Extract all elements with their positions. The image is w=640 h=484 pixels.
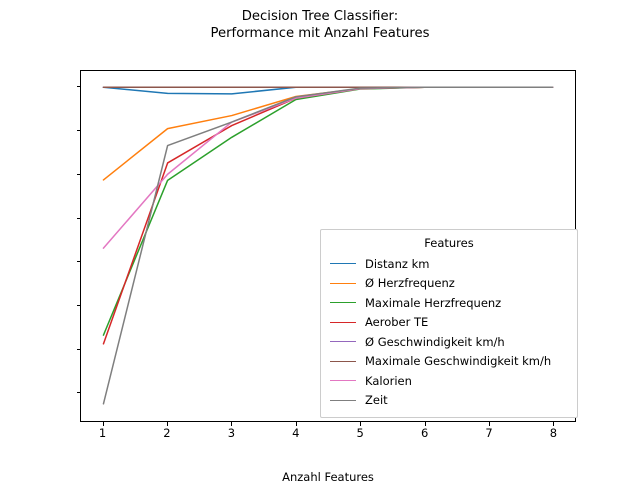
y-tick-mark: [77, 174, 81, 175]
x-tick-mark: [553, 422, 554, 426]
legend-item[interactable]: Aerober TE: [330, 313, 568, 333]
x-tick-mark: [360, 422, 361, 426]
x-tick-label: 6: [405, 426, 445, 440]
legend-item-label: Maximale Geschwindigkeit km/h: [365, 354, 551, 368]
legend-item-label: Maximale Herzfrequenz: [365, 296, 501, 310]
legend-color-swatch: [330, 283, 356, 284]
legend-color-swatch: [330, 400, 356, 401]
legend-color-swatch: [330, 380, 356, 381]
legend-title: Features: [330, 236, 568, 250]
y-tick-mark: [77, 218, 81, 219]
y-tick-mark: [77, 349, 81, 350]
legend-item-label: Zeit: [365, 393, 388, 407]
legend: Features Distanz kmØ HerzfrequenzMaximal…: [320, 229, 578, 418]
x-tick-mark: [231, 422, 232, 426]
legend-item[interactable]: Maximale Herzfrequenz: [330, 293, 568, 313]
legend-item[interactable]: Zeit: [330, 391, 568, 411]
x-tick-mark: [425, 422, 426, 426]
y-tick-mark: [77, 130, 81, 131]
legend-item-label: Ø Herzfrequenz: [365, 276, 455, 290]
legend-item-label: Aerober TE: [365, 315, 428, 329]
x-tick-mark: [103, 422, 104, 426]
x-axis-label: Anzahl Features: [80, 470, 576, 484]
x-tick-mark: [296, 422, 297, 426]
legend-color-swatch: [330, 302, 356, 303]
legend-item[interactable]: Ø Geschwindigkeit km/h: [330, 332, 568, 352]
x-tick-label: 5: [340, 426, 380, 440]
legend-item[interactable]: Ø Herzfrequenz: [330, 274, 568, 294]
legend-color-swatch: [330, 361, 356, 362]
legend-item-label: Kalorien: [365, 374, 412, 388]
legend-color-swatch: [330, 263, 356, 264]
x-tick-label: 1: [83, 426, 123, 440]
legend-color-swatch: [330, 322, 356, 323]
legend-item[interactable]: Maximale Geschwindigkeit km/h: [330, 352, 568, 372]
x-tick-label: 2: [147, 426, 187, 440]
x-tick-mark: [489, 422, 490, 426]
x-tick-mark: [167, 422, 168, 426]
legend-item-label: Ø Geschwindigkeit km/h: [365, 335, 505, 349]
legend-item[interactable]: Kalorien: [330, 371, 568, 391]
y-tick-mark: [77, 261, 81, 262]
x-tick-label: 8: [533, 426, 573, 440]
legend-item[interactable]: Distanz km: [330, 254, 568, 274]
x-tick-label: 7: [469, 426, 509, 440]
legend-color-swatch: [330, 341, 356, 342]
y-tick-mark: [77, 305, 81, 306]
y-tick-mark: [77, 86, 81, 87]
legend-item-label: Distanz km: [365, 257, 429, 271]
chart-title: Decision Tree Classifier: Performance mi…: [0, 8, 640, 42]
y-tick-mark: [77, 392, 81, 393]
x-tick-label: 3: [211, 426, 251, 440]
x-tick-label: 4: [276, 426, 316, 440]
legend-entries: Distanz kmØ HerzfrequenzMaximale Herzfre…: [330, 254, 568, 410]
chart-figure: Decision Tree Classifier: Performance mi…: [0, 0, 640, 480]
